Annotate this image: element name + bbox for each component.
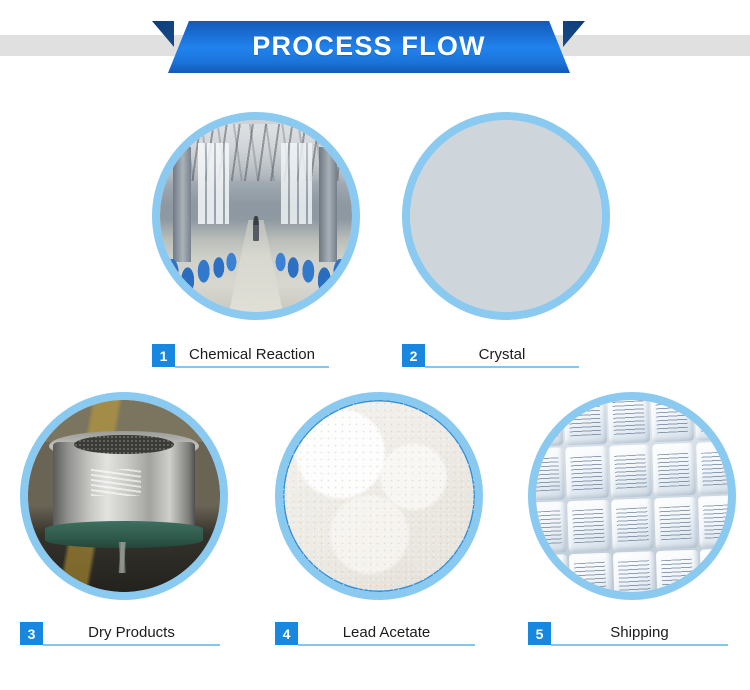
step-label-text-3: Dry Products [88,624,175,641]
step-label-underline-1: Chemical Reaction [175,344,329,368]
step-image-inner [283,400,475,592]
bag-item [653,443,696,496]
window-right-detail [281,143,312,224]
photo-packed-bags [536,400,728,592]
page-title: PROCESS FLOW [252,33,485,62]
step-label-underline-3: Dry Products [43,622,220,646]
bag-item [536,554,570,592]
bag-item [698,495,728,548]
step-image-inner [28,400,220,592]
powder-texture-detail [283,400,475,592]
bag-item [566,446,609,499]
step-number-badge-3: 3 [20,622,43,645]
step-label-5: 5 Shipping [528,622,728,646]
bag-item [651,400,694,443]
photo-lead-acetate-powder [283,400,475,592]
step-number-badge-5: 5 [528,622,551,645]
centrifuge-legs-detail [66,542,181,573]
step-label-1: 1 Chemical Reaction [152,344,329,368]
step-label-text-2: Crystal [479,346,526,363]
step-label-3: 3 Dry Products [20,622,220,646]
bag-item [696,442,728,495]
page-header: PROCESS FLOW [0,0,750,92]
bag-item [609,445,652,498]
step-label-2: 2 Crystal [402,344,579,368]
bag-stack-detail [536,400,728,592]
bag-item [536,448,566,501]
bag-item [536,400,564,447]
step-label-text-4: Lead Acetate [343,624,431,641]
photo-factory-reactors [160,120,352,312]
step-image-inner [160,120,352,312]
step-label-underline-4: Lead Acetate [298,622,475,646]
step-image-lead-acetate [275,392,483,600]
bag-item [657,550,700,592]
bag-item [568,500,611,553]
reactor-tanks-left [160,216,244,308]
step-number-badge-1: 1 [152,344,175,367]
photo-crystal-basins [410,120,602,312]
window-left-detail [198,143,229,224]
step-label-4: 4 Lead Acetate [275,622,475,646]
step-image-dry-products [20,392,228,600]
step-number-badge-4: 4 [275,622,298,645]
bag-item [611,498,654,551]
step-label-text-5: Shipping [610,624,668,641]
step-number-badge-2: 2 [402,344,425,367]
bag-item [700,548,728,592]
bag-item [694,400,728,441]
reactor-tanks-right [268,216,352,308]
step-image-crystal [402,112,610,320]
step-image-shipping [528,392,736,600]
ribbon-banner: PROCESS FLOW [168,21,570,73]
bag-item [655,497,698,550]
centrifuge-logo-mark [91,469,141,496]
centrifuge-perforated-opening [74,435,174,454]
bag-item [536,501,568,554]
photo-centrifuge-dryer [28,400,220,592]
bag-item [570,553,613,592]
bag-item [608,400,651,444]
step-image-chemical-reaction [152,112,360,320]
step-label-text-1: Chemical Reaction [189,346,315,363]
worker-figure [253,216,259,241]
bag-item [564,400,607,446]
step-image-inner [410,120,602,312]
bag-item [613,551,656,592]
step-image-inner [536,400,728,592]
step-label-underline-2: Crystal [425,344,579,368]
step-label-underline-5: Shipping [551,622,728,646]
